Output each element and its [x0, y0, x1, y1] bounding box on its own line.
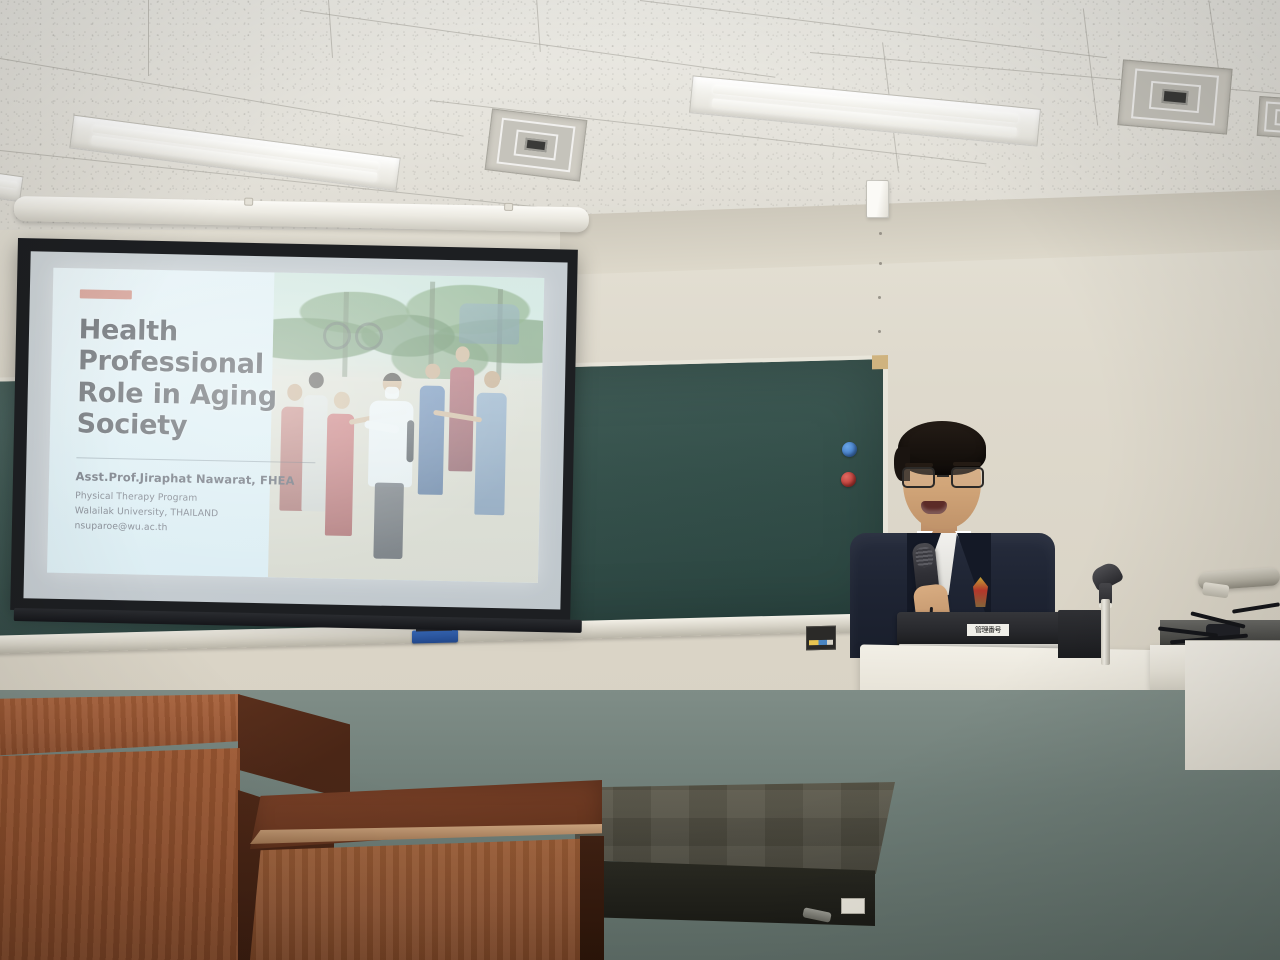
- raised-stage-platform: [575, 782, 905, 960]
- stage-surface: [575, 782, 895, 874]
- presenter-eyebrow: [953, 462, 981, 466]
- photo-participant-head: [426, 363, 440, 379]
- roller-clip: [504, 203, 513, 211]
- photo-vehicle: [459, 303, 519, 344]
- roller-clip: [244, 198, 253, 206]
- cabinet-top-surface: [0, 694, 240, 756]
- eyeglasses-bridge: [937, 475, 949, 477]
- wall-sensor-box: [866, 180, 889, 218]
- eyeglasses-icon: [901, 467, 985, 489]
- slide-title-line: Society: [76, 408, 362, 445]
- photo-leader-microphone: [406, 421, 414, 463]
- chalkboard-corner-bracket: [872, 355, 888, 369]
- chalk-box[interactable]: [806, 626, 836, 651]
- slide-divider-rule: [76, 457, 315, 463]
- photo-participant: [474, 392, 506, 515]
- wall-screw: [878, 330, 881, 333]
- eyeglasses-lens-right: [951, 467, 984, 488]
- wooden-table: [250, 780, 602, 960]
- laptop-asset-sticker: 管理番号: [967, 624, 1009, 636]
- podium-equipment-panel: [1058, 610, 1102, 658]
- photo-session-leader: [357, 368, 423, 559]
- table-front-panel: [250, 838, 602, 960]
- chalkboard-eraser[interactable]: [412, 629, 458, 643]
- laptop[interactable]: 管理番号: [897, 612, 1079, 647]
- slide-text-column: Health Professional Role in Aging Societ…: [74, 289, 364, 540]
- slide-author-name: Asst.Prof.Jiraphat Nawarat, FHEA: [75, 469, 360, 489]
- right-wall-panel: [1185, 640, 1280, 770]
- ceiling-tile-seam: [148, 0, 149, 76]
- presenter-mouth: [921, 501, 947, 514]
- microphone-pole: [1101, 599, 1110, 665]
- photo-participant-head: [456, 347, 470, 363]
- lecture-hall-scene: Health Professional Role in Aging Societ…: [0, 0, 1280, 960]
- projection-screen-surface: Health Professional Role in Aging Societ…: [23, 251, 567, 609]
- wall-screw: [879, 232, 882, 235]
- chalk-box-stripe: [809, 640, 833, 646]
- cabinet-front-panel: [0, 748, 240, 960]
- photo-leader-trousers: [373, 482, 403, 558]
- wall-screw: [878, 296, 881, 299]
- eyeglasses-lens-left: [902, 467, 935, 488]
- slide-title: Health Professional Role in Aging Societ…: [76, 314, 364, 445]
- photo-leader-face-mask: [385, 387, 399, 399]
- photo-participant-head: [484, 370, 500, 388]
- stage-label-tag: [841, 898, 865, 914]
- microphone-stand[interactable]: [1098, 565, 1112, 665]
- hvac-diffuser: [485, 108, 588, 181]
- hvac-diffuser: [1117, 59, 1232, 134]
- slide-accent-bar: [79, 289, 131, 299]
- projection-screen[interactable]: Health Professional Role in Aging Societ…: [10, 238, 578, 622]
- table-side-panel: [580, 836, 604, 960]
- wall-screw: [879, 262, 882, 265]
- presentation-slide: Health Professional Role in Aging Societ…: [47, 267, 545, 583]
- hvac-diffuser: [1257, 96, 1280, 140]
- slide-affiliation: Physical Therapy Program Walailak Univer…: [74, 489, 360, 540]
